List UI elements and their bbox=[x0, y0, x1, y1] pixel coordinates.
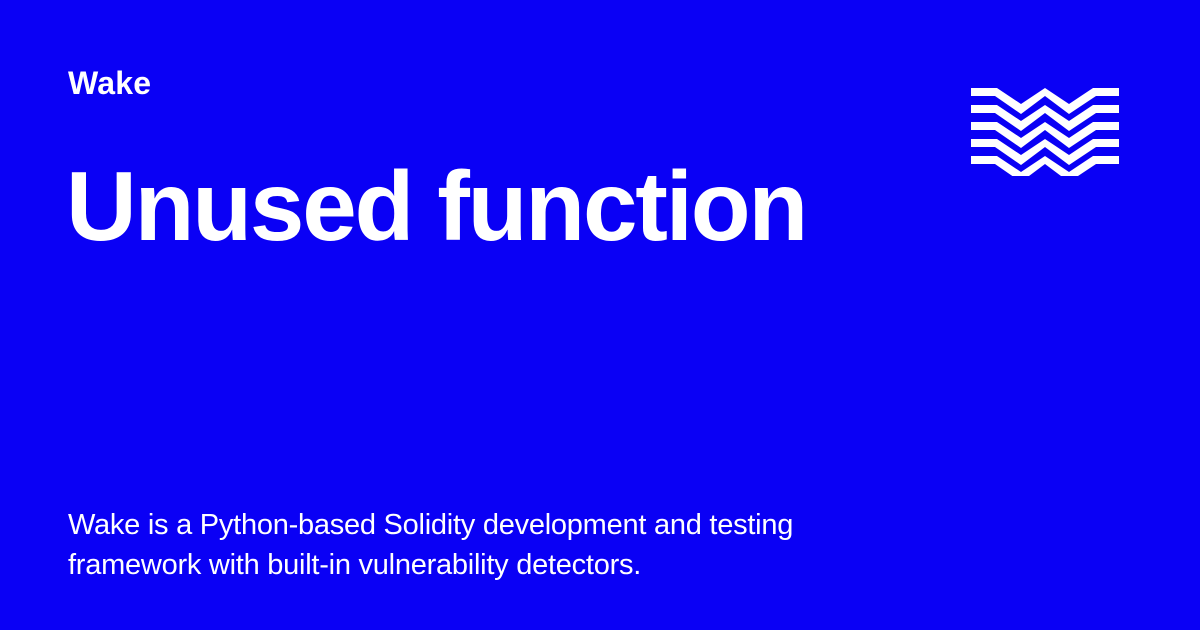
open-graph-card: Wake Unused function Wake is a Python-ba… bbox=[0, 0, 1200, 630]
description-text: Wake is a Python-based Solidity developm… bbox=[68, 505, 898, 585]
page-title: Unused function bbox=[66, 155, 1076, 259]
brand-name: Wake bbox=[68, 66, 151, 101]
